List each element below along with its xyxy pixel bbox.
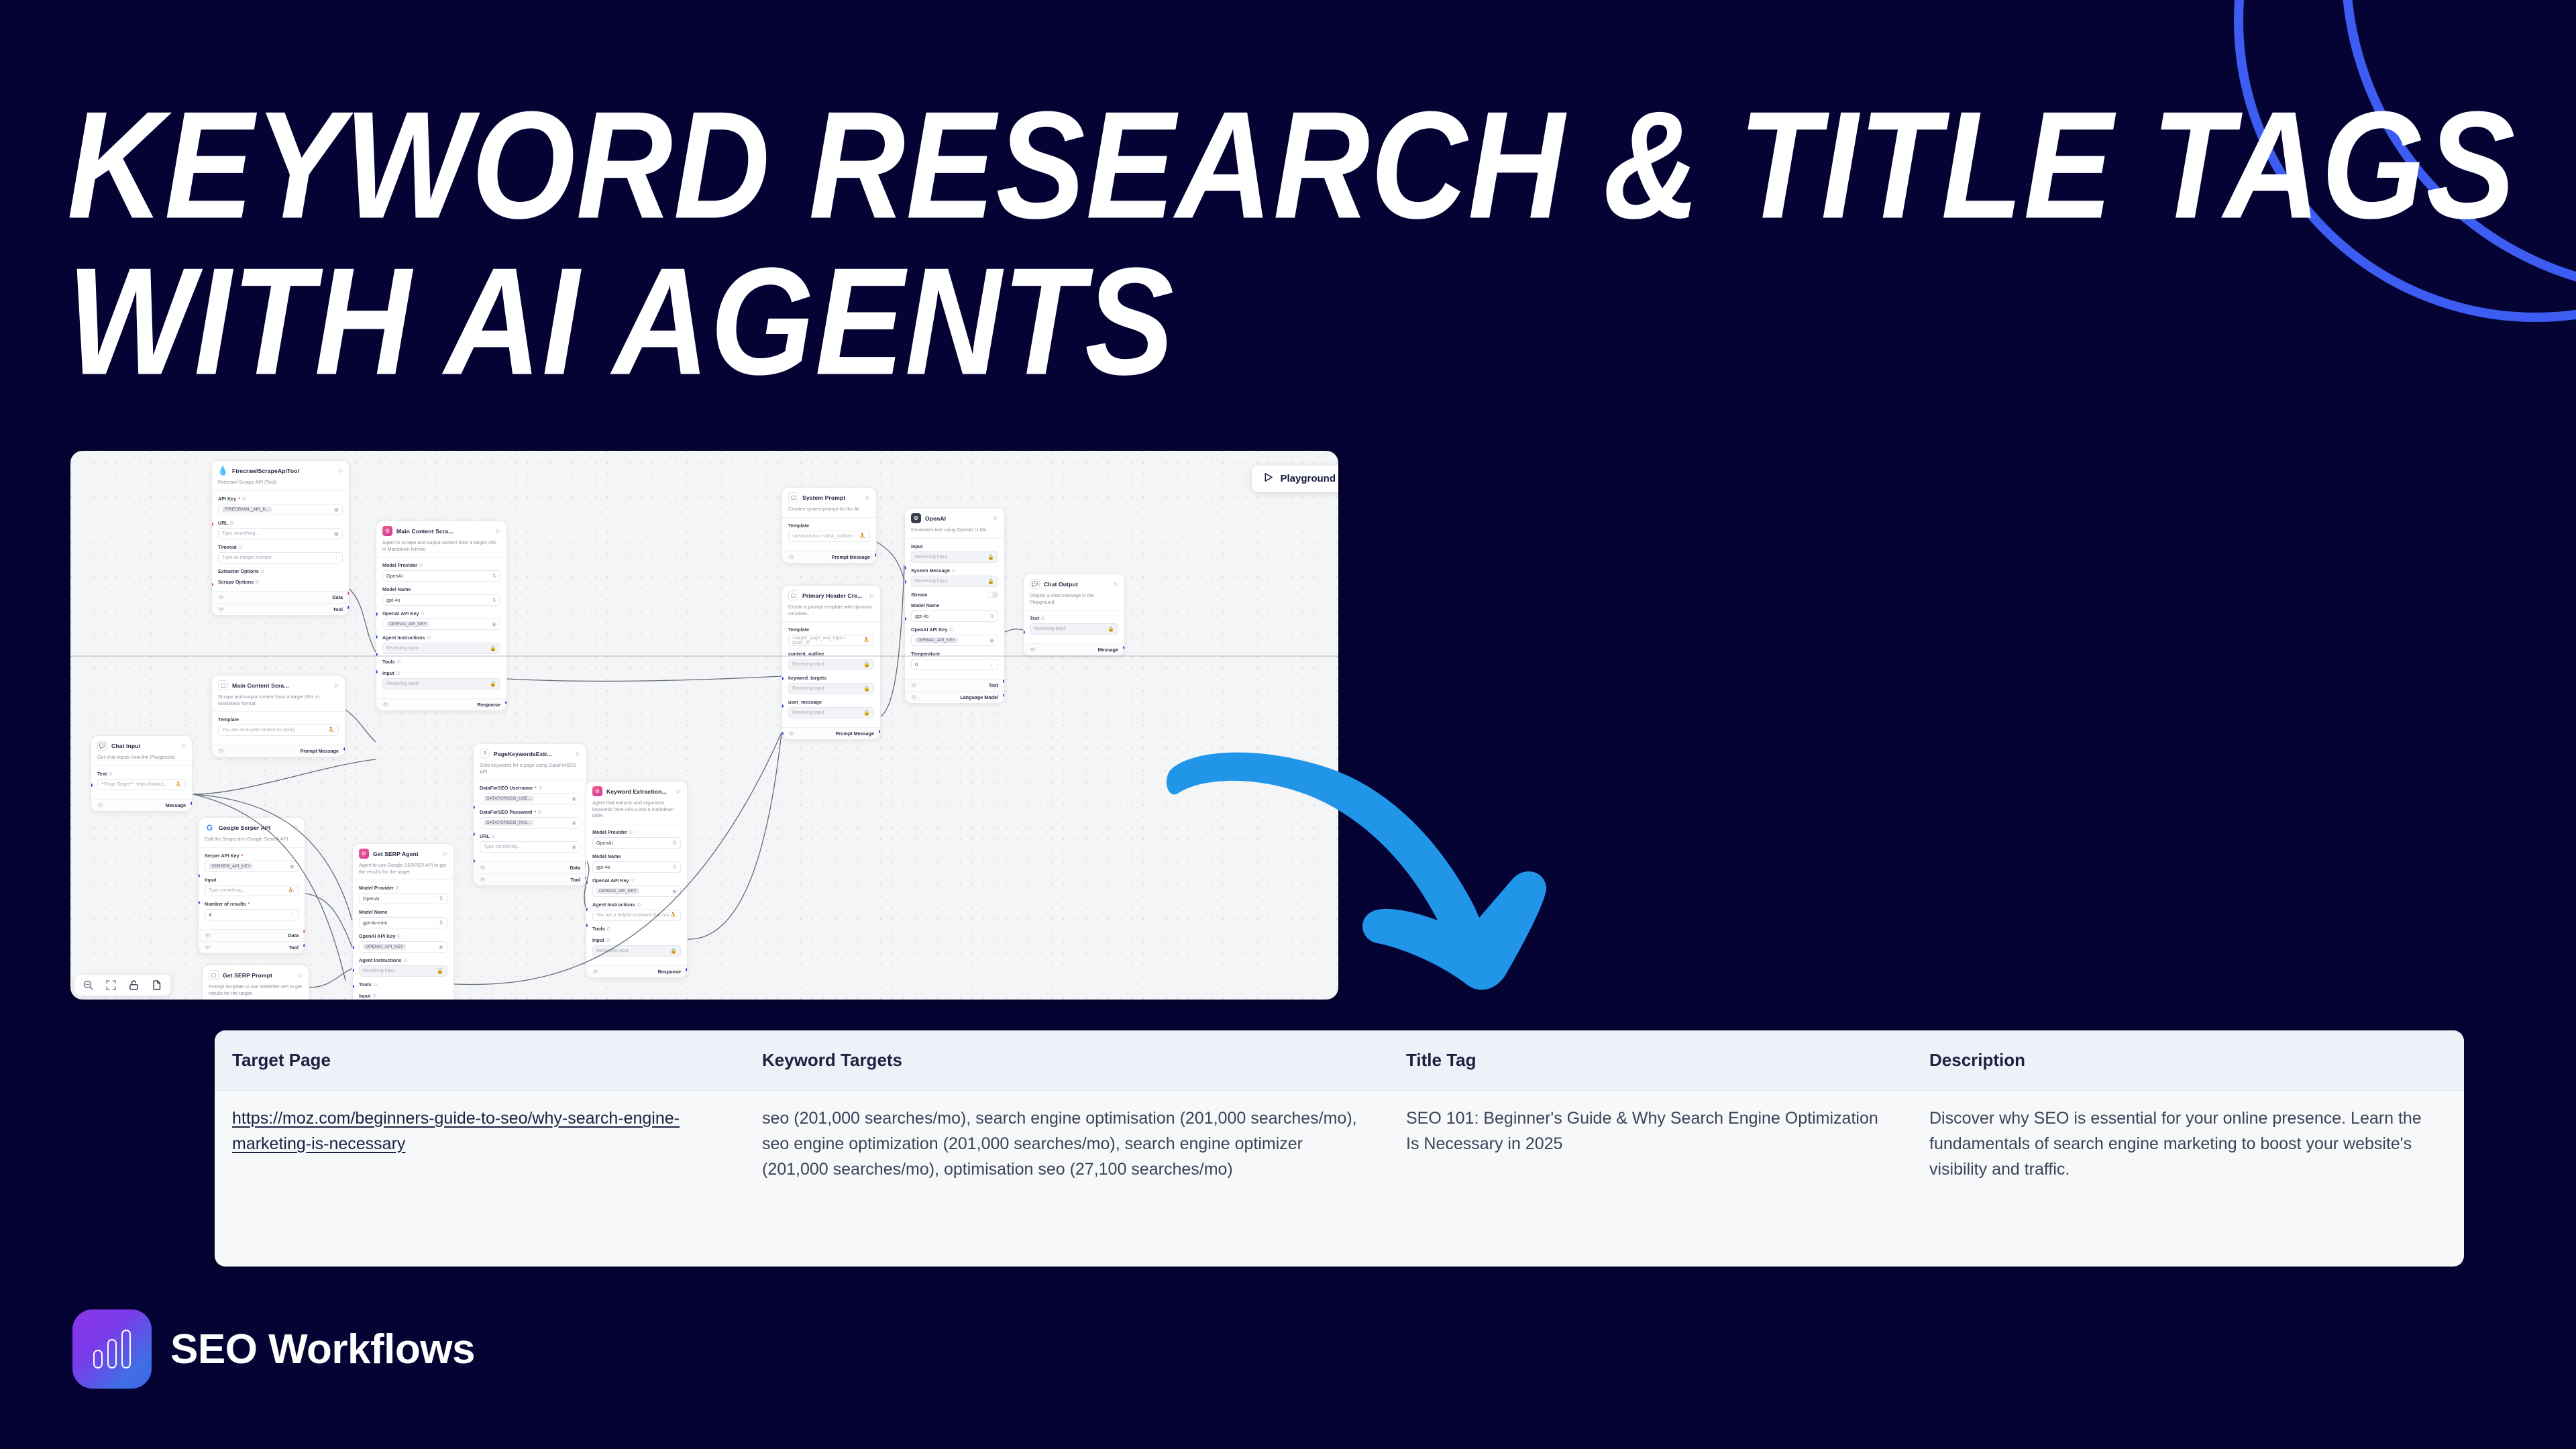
field-label: OpenAI API Key	[359, 933, 447, 939]
field-label: Tools	[359, 981, 447, 987]
chat-output-icon: 💬	[1030, 579, 1040, 589]
node-chat-output[interactable]: 💬 Chat Output ▷ Display a chat message i…	[1023, 574, 1125, 656]
prompt-icon: ▢	[209, 970, 219, 980]
cell-target-page: https://moz.com/beginners-guide-to-seo/w…	[215, 1106, 745, 1182]
agent-icon: ⚙	[359, 849, 369, 859]
node-description: Firecrawl Scrape API (Tool).	[212, 479, 349, 491]
node-output-tool[interactable]: 👁Tool	[212, 603, 349, 615]
field-label: Model Name	[911, 602, 998, 608]
node-output-prompt-message[interactable]: 👁Prompt Message	[212, 745, 345, 757]
input-field[interactable]: Type something...⛹	[205, 885, 299, 896]
node-title: FirecrawlScrapeApiTool	[232, 468, 299, 474]
node-title: Chat Output	[1044, 581, 1078, 588]
node-primary-header-creator[interactable]: ▢ Primary Header Cre... ▷ Create a promp…	[782, 585, 881, 740]
text-field[interactable]: Receiving input🔒	[1030, 623, 1118, 635]
column-header-title-tag: Title Tag	[1389, 1050, 1912, 1071]
url-field[interactable]: Type something...◉	[480, 841, 580, 853]
model-name-select[interactable]: gpt-4o⇅	[911, 610, 998, 622]
field-label: Template	[788, 627, 874, 633]
run-node-icon[interactable]: ▷	[294, 824, 299, 830]
field-label: Stream	[911, 592, 998, 598]
agent-instructions-field[interactable]: You are a helpful assistant that can⛹	[592, 910, 681, 921]
results-table: Target Page Keyword Targets Title Tag De…	[215, 1030, 2464, 1267]
question-icon: ?	[480, 749, 490, 759]
run-node-icon[interactable]: ▷	[443, 851, 447, 857]
text-field[interactable]: **Page Target**: https://www.b...⛹	[97, 779, 186, 790]
field-label: Agent Instructions	[592, 902, 681, 908]
openai-api-key-field[interactable]: OPENAI_API_KEY◉	[359, 941, 447, 953]
prompt-icon: ▢	[788, 492, 798, 502]
node-output-response[interactable]: 👁Response	[586, 965, 687, 977]
port[interactable]	[191, 802, 193, 805]
agent-instructions-field[interactable]: Receiving input🔒	[382, 643, 500, 654]
input-field[interactable]: Receiving input🔒	[911, 551, 998, 563]
port[interactable]	[343, 747, 345, 751]
run-node-icon[interactable]: ▷	[870, 592, 874, 598]
user-message-field[interactable]: Receiving input🔒	[788, 707, 874, 718]
openai-api-key-field[interactable]: OPENAI_API_KEY◉	[592, 885, 681, 897]
node-description: Scrape and output content from a target …	[212, 694, 345, 712]
node-openai[interactable]: ❂ OpenAI ▷ Generates text using OpenAI L…	[904, 508, 1005, 704]
model-provider-select[interactable]: OpenAI⇅	[359, 893, 447, 904]
node-title: Main Content Scra...	[396, 528, 453, 535]
playground-button[interactable]: Playground	[1252, 466, 1338, 492]
node-output-tool[interactable]: 👁Tool	[474, 873, 586, 885]
run-node-icon[interactable]: ▷	[299, 972, 303, 978]
port[interactable]	[303, 944, 305, 947]
field-label: Model Provider	[382, 562, 500, 568]
node-output-text[interactable]: 👁Text	[905, 679, 1004, 691]
node-output-data[interactable]: 👁Data	[212, 591, 349, 603]
field-label: Model Name	[592, 853, 681, 859]
node-firecrawl-scrape-api-tool[interactable]: 💧 FirecrawlScrapeApiTool ▷ Firecrawl Scr…	[211, 460, 350, 616]
keyword-targets-field[interactable]: Receiving input🔒	[788, 683, 874, 694]
column-header-description: Description	[1912, 1050, 2464, 1071]
table-row: https://moz.com/beginners-guide-to-seo/w…	[215, 1091, 2464, 1182]
node-description: Create a prompt template with dynamic va…	[782, 604, 880, 622]
node-title: Google Serper API	[219, 824, 270, 831]
template-field[interactable]: You are an expert content scraping⛹	[218, 724, 339, 736]
port[interactable]	[347, 592, 350, 595]
brand-footer: SEO Workflows	[72, 1309, 475, 1389]
field-label: Timeout	[218, 544, 343, 550]
model-name-select[interactable]: gpt-4o⇅	[382, 594, 500, 606]
node-output-tool[interactable]: 👁Tool	[199, 941, 305, 953]
google-icon: G	[205, 822, 215, 833]
field-label: Tools	[592, 926, 681, 932]
brand-name: SEO Workflows	[170, 1326, 475, 1373]
field-label: DataForSEO Username*	[480, 785, 580, 791]
input-field[interactable]: Receiving input🔒	[382, 678, 500, 690]
run-node-icon[interactable]: ▷	[339, 468, 343, 474]
port[interactable]	[347, 606, 350, 609]
openai-api-key-field[interactable]: OPENAI_API_KEY◉	[911, 635, 998, 646]
node-description: Agent to use Google SERPER API to get th…	[353, 862, 453, 880]
system-message-field[interactable]: Receiving input🔒	[911, 576, 998, 587]
node-main-content-scraper-agent[interactable]: ⚙ Main Content Scra... ▷ Agent to scrape…	[376, 521, 507, 711]
column-header-keyword-targets: Keyword Targets	[745, 1050, 1389, 1071]
run-node-icon[interactable]: ▷	[994, 515, 998, 521]
template-field[interactable]: <target_page_and_topic> {user_m⛹	[788, 635, 874, 646]
field-label: Tools	[382, 659, 500, 665]
node-title: Main Content Scra...	[232, 682, 289, 689]
run-node-icon[interactable]: ▷	[866, 494, 870, 500]
slide-canvas: Keyword Research & Title Tags With AI Ag…	[0, 0, 2576, 1449]
node-description: Agent to scrape and output content from …	[376, 539, 506, 557]
model-name-select[interactable]: gpt-4o⇅	[592, 861, 681, 873]
node-description: Creates system prompt for the AI.	[782, 506, 876, 518]
agent-icon: ⚙	[592, 786, 602, 796]
field-label: Serper API Key*	[205, 853, 299, 859]
agent-instructions-field[interactable]: Receiving input🔒	[359, 965, 447, 977]
canvas-toolbar[interactable]	[74, 975, 170, 996]
model-provider-select[interactable]: OpenAI⇅	[592, 837, 681, 849]
field-label: Model Provider	[592, 829, 681, 835]
openai-api-key-field[interactable]: OPENAI_API_KEY◉	[382, 619, 500, 630]
port[interactable]	[303, 930, 305, 933]
node-output-data[interactable]: 👁Data	[199, 929, 305, 941]
model-provider-select[interactable]: OpenAI⇅	[382, 570, 500, 582]
field-label: Scrape Options	[218, 579, 343, 585]
field-label: Agent Instructions	[359, 957, 447, 963]
run-node-icon[interactable]: ▷	[1114, 581, 1118, 587]
node-chat-input[interactable]: 💬 Chat Input ▷ Get chat inputs from the …	[91, 735, 193, 812]
field-label: OpenAI API Key	[911, 627, 998, 633]
field-label: Input	[359, 993, 447, 999]
field-label: OpenAI API Key	[382, 610, 500, 616]
field-label: Number of results*	[205, 901, 299, 907]
api-key-field[interactable]: FIRECRAWL_API_K...◉	[218, 504, 343, 515]
page-icon[interactable]	[151, 979, 162, 991]
node-output-data[interactable]: 👁Data	[474, 861, 586, 873]
field-label: OpenAI API Key	[592, 877, 681, 883]
prompt-icon: ▢	[788, 590, 798, 600]
node-description: Gets keywords for a page using DataForSE…	[474, 762, 586, 780]
port[interactable]	[879, 730, 881, 733]
url-field[interactable]: Type something...◉	[218, 528, 343, 539]
temperature-field[interactable]: 0⋮	[911, 659, 998, 670]
bar-chart-icon	[72, 1309, 152, 1389]
field-label: Template	[218, 716, 339, 722]
node-title: System Prompt	[802, 494, 845, 501]
lock-icon[interactable]	[128, 979, 140, 991]
node-description: Display a chat message in the Playground…	[1024, 592, 1124, 610]
node-output-prompt-message[interactable]: 👁Prompt Message	[782, 727, 880, 739]
title-line-2: With AI Agents	[67, 243, 2546, 398]
play-icon	[1263, 472, 1274, 486]
field-label: Agent Instructions	[382, 635, 500, 641]
field-label: Text	[1030, 615, 1118, 621]
port[interactable]	[1123, 646, 1125, 649]
prompt-icon: ▢	[218, 680, 228, 690]
cell-description: Discover why SEO is essential for your o…	[1912, 1106, 2464, 1182]
node-keyword-extraction-agent[interactable]: ⚙ Keyword Extraction... ▷ Agent that ext…	[586, 781, 688, 978]
column-header-target-page: Target Page	[215, 1050, 745, 1071]
field-label: Input	[205, 877, 299, 883]
field-label: Model Provider	[359, 885, 447, 891]
run-node-icon[interactable]: ▷	[677, 788, 681, 794]
serper-api-key-field[interactable]: SERPER_API_KEY◉	[205, 861, 299, 872]
port[interactable]	[505, 701, 507, 704]
field-label: URL	[218, 520, 343, 526]
field-label: Input	[382, 670, 500, 676]
node-system-prompt[interactable]: ▢ System Prompt ▷ Creates system prompt …	[782, 487, 877, 563]
node-title: Primary Header Cre...	[802, 592, 863, 599]
template-field[interactable]: <instructions> <task_outline>⛹	[788, 531, 870, 542]
node-output-language-model[interactable]: 👁Language Model	[905, 691, 1004, 703]
field-label: content_outline	[788, 651, 874, 657]
cell-title-tag: SEO 101: Beginner's Guide & Why Search E…	[1389, 1106, 1912, 1182]
field-label: Input	[592, 937, 681, 943]
zoom-out-icon[interactable]	[83, 979, 94, 991]
node-description: Prompt template to use SERPER API to get…	[203, 983, 309, 1000]
page-title: Keyword Research & Title Tags With AI Ag…	[67, 87, 2546, 399]
node-title: Chat Input	[111, 743, 140, 749]
port[interactable]	[91, 784, 93, 787]
agent-icon: ⚙	[382, 526, 392, 536]
number-of-results-field[interactable]: 4⋮	[205, 909, 299, 920]
node-description: Get chat inputs from the Playground.	[91, 754, 192, 766]
openai-icon: ❂	[911, 513, 921, 523]
field-label: keyword_targets	[788, 675, 874, 681]
stream-toggle[interactable]	[987, 592, 998, 598]
run-node-icon[interactable]: ▷	[182, 743, 186, 749]
field-label: Template	[788, 523, 870, 529]
chat-input-icon: 💬	[97, 741, 107, 751]
port[interactable]	[1003, 694, 1005, 697]
field-label: user_message	[788, 699, 874, 705]
table-header-row: Target Page Keyword Targets Title Tag De…	[215, 1030, 2464, 1091]
node-title: PageKeywordsExtr...	[494, 751, 552, 757]
node-output-prompt-message[interactable]: 👁Prompt Message	[782, 551, 876, 563]
node-output-message[interactable]: 👁Message	[91, 799, 192, 811]
run-node-icon[interactable]: ▷	[335, 682, 339, 688]
node-page-keywords-extractor[interactable]: ? PageKeywordsExtr... ▷ Gets keywords fo…	[473, 743, 587, 886]
node-google-serper-api[interactable]: G Google Serper API ▷ Call the Serper.de…	[198, 817, 305, 954]
field-label: API Key*	[218, 496, 343, 502]
field-label: System Message	[911, 568, 998, 574]
dataforseo-password-field[interactable]: DATAFORSEO_PAS...◉	[480, 817, 580, 828]
firecrawl-flame-icon: 💧	[218, 466, 228, 476]
cell-keyword-targets: seo (201,000 searches/mo), search engine…	[745, 1106, 1389, 1182]
node-get-serp-agent[interactable]: ⚙ Get SERP Agent ▷ Agent to use Google S…	[352, 843, 454, 1000]
node-output-response[interactable]: 👁Response	[376, 698, 506, 710]
workflow-canvas-screenshot[interactable]: Playground 💧 FirecrawlScrapeApiTool ▷ Fi…	[70, 451, 1338, 1000]
node-title: OpenAI	[925, 515, 946, 522]
node-get-serp-prompt[interactable]: ▢ Get SERP Prompt ▷ Prompt template to u…	[202, 965, 309, 1000]
title-line-1: Keyword Research & Title Tags	[67, 79, 2516, 250]
port[interactable]	[686, 968, 688, 971]
run-node-icon[interactable]: ▷	[576, 751, 580, 757]
node-output-message[interactable]: 👁Message	[1024, 643, 1124, 655]
field-label: Temperature	[911, 651, 998, 657]
node-description: Generates text using OpenAI LLMs.	[905, 527, 1004, 539]
field-label: Extractor Options	[218, 568, 343, 574]
field-label: URL	[480, 833, 580, 839]
dataforseo-username-field[interactable]: DATAFORSEO_USE...◉	[480, 793, 580, 804]
port[interactable]	[875, 553, 877, 557]
port[interactable]	[1003, 680, 1005, 683]
node-title: Keyword Extraction...	[606, 788, 667, 795]
field-label: DataForSEO Password*	[480, 809, 580, 815]
field-label: Model Name	[382, 586, 500, 592]
node-title: Get SERP Agent	[373, 851, 419, 857]
node-main-content-scrape-prompt[interactable]: ▢ Main Content Scra... ▷ Scrape and outp…	[211, 675, 345, 757]
fit-view-icon[interactable]	[105, 979, 117, 991]
node-title: Get SERP Prompt	[223, 972, 272, 979]
run-node-icon[interactable]: ▷	[496, 528, 500, 534]
input-field[interactable]: Receiving input🔒	[592, 945, 681, 957]
field-label: Model Name	[359, 909, 447, 915]
field-label: Text	[97, 771, 186, 777]
timeout-field[interactable]: Type an integer number⋮	[218, 552, 343, 563]
model-name-select[interactable]: gpt-4o-mini⇅	[359, 917, 447, 928]
field-label: Input	[911, 543, 998, 549]
target-page-link[interactable]: https://moz.com/beginners-guide-to-seo/w…	[232, 1109, 680, 1153]
node-description: Agent that extracts and organizes keywor…	[586, 800, 687, 824]
node-description: Call the Serper.dev Google Search API.	[199, 836, 305, 848]
content-outline-field[interactable]: Receiving input🔒	[788, 659, 874, 670]
playground-label: Playground	[1280, 473, 1336, 484]
